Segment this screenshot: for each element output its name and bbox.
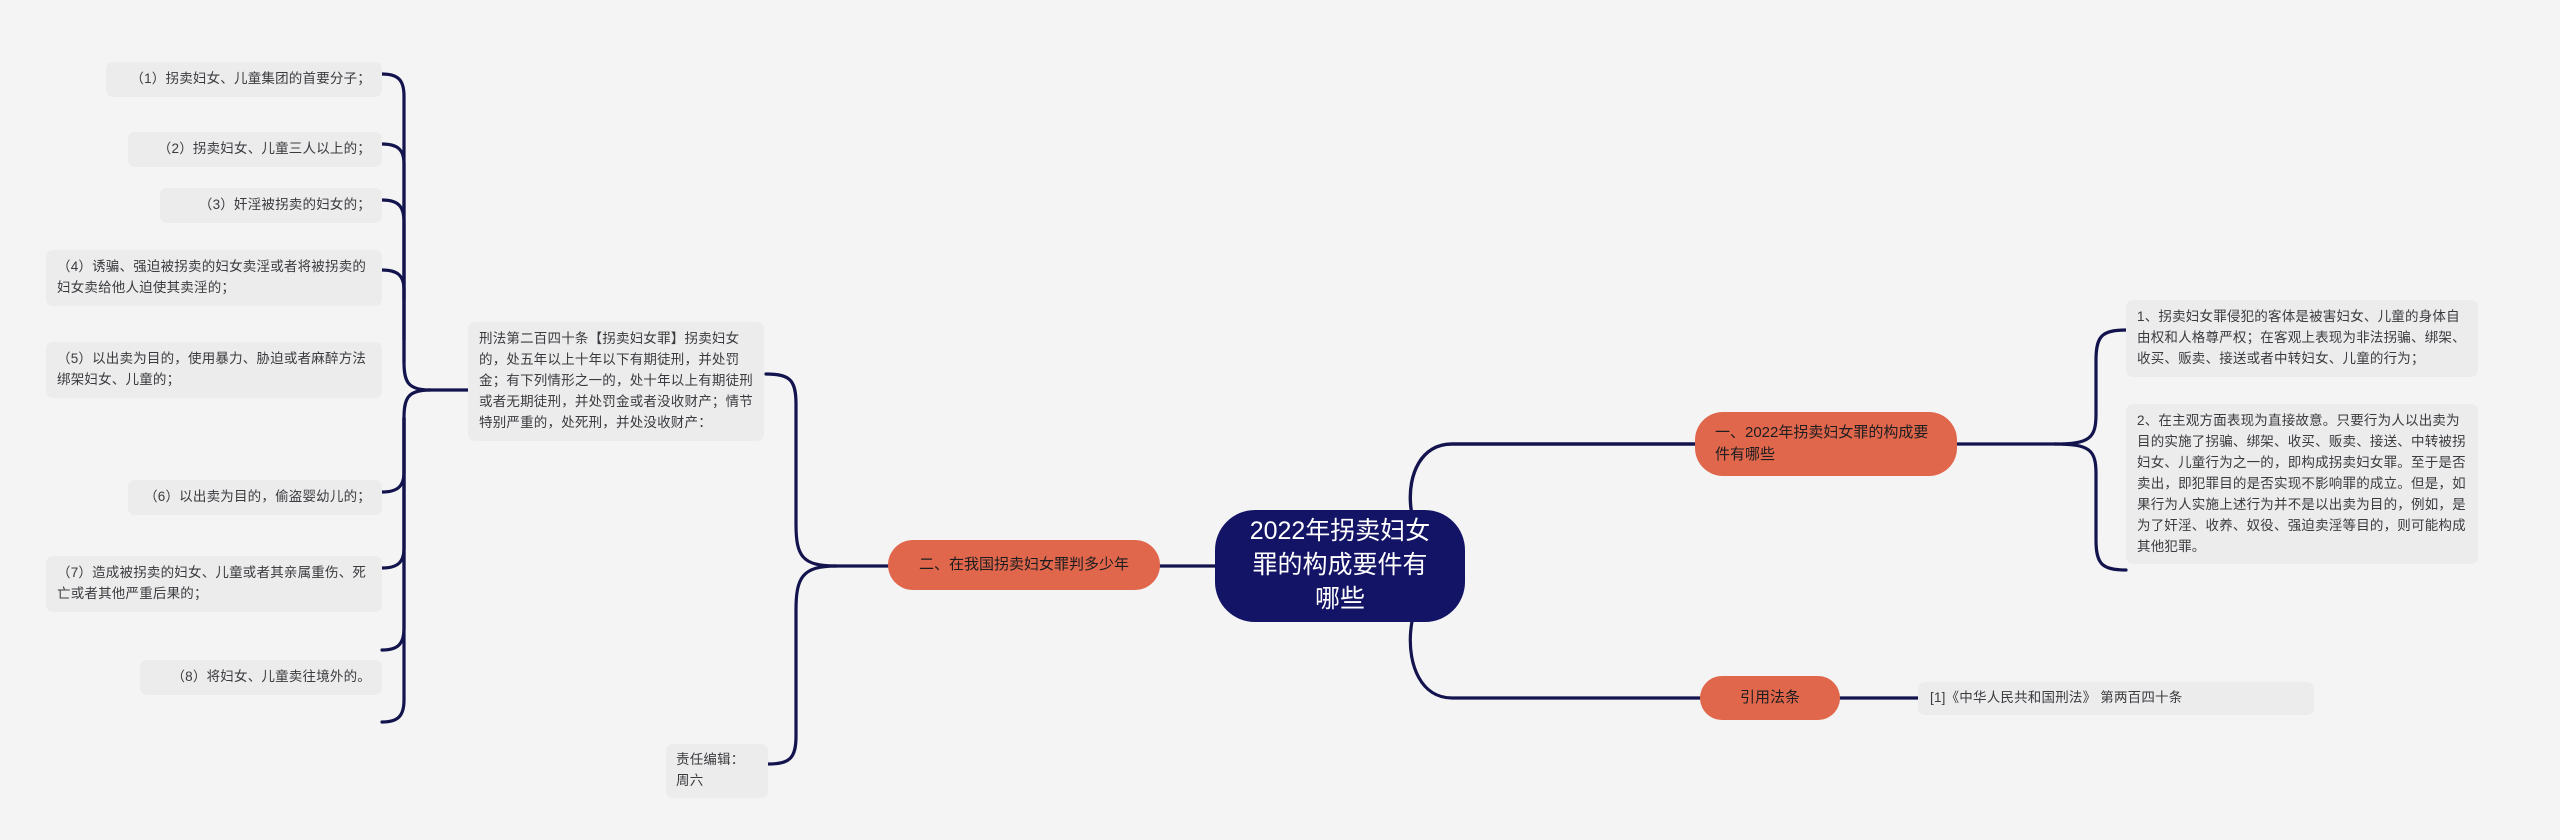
detail-panel-text: 1、拐卖妇女罪侵犯的客体是被害妇女、儿童的身体自由权和人格尊严权；在客观上表现为… bbox=[2137, 309, 2466, 366]
law-item-2: （2）拐卖妇女、儿童三人以上的； bbox=[128, 132, 382, 167]
law-item-text: （7）造成被拐卖的妇女、儿童或者其亲属重伤、死亡或者其他严重后果的； bbox=[57, 565, 366, 601]
citation-chip: [1]《中华人民共和国刑法》 第两百四十条 bbox=[1918, 682, 2314, 715]
branch-node-constituent-elements[interactable]: 一、2022年拐卖妇女罪的构成要件有哪些 bbox=[1695, 412, 1957, 476]
branch-node-label: 一、2022年拐卖妇女罪的构成要件有哪些 bbox=[1715, 422, 1937, 466]
law-item-text: （6）以出卖为目的，偷盗婴幼儿的； bbox=[144, 489, 371, 504]
editor-credit-chip: 责任编辑：周六 bbox=[666, 744, 768, 798]
branch-node-label: 引用法条 bbox=[1740, 687, 1800, 709]
law-item-5: （5）以出卖为目的，使用暴力、胁迫或者麻醉方法绑架妇女、儿童的； bbox=[46, 342, 382, 398]
law-item-1: （1）拐卖妇女、儿童集团的首要分子； bbox=[106, 62, 382, 97]
law-item-text: （4）诱骗、强迫被拐卖的妇女卖淫或者将被拐卖的妇女卖给他人迫使其卖淫的； bbox=[57, 259, 366, 295]
editor-credit-text: 责任编辑：周六 bbox=[676, 752, 745, 788]
law-item-text: （8）将妇女、儿童卖往境外的。 bbox=[171, 669, 371, 684]
law-item-3: （3）奸淫被拐卖的妇女的； bbox=[160, 188, 382, 223]
law-item-text: （5）以出卖为目的，使用暴力、胁迫或者麻醉方法绑架妇女、儿童的； bbox=[57, 351, 366, 387]
citation-text: [1]《中华人民共和国刑法》 第两百四十条 bbox=[1930, 690, 2182, 705]
law-item-text: （1）拐卖妇女、儿童集团的首要分子； bbox=[130, 71, 371, 86]
branch-node-sentencing[interactable]: 二、在我国拐卖妇女罪判多少年 bbox=[888, 540, 1160, 590]
mindmap-canvas: 2022年拐卖妇女罪的构成要件有哪些 一、2022年拐卖妇女罪的构成要件有哪些 … bbox=[0, 0, 2560, 840]
branch-node-label: 二、在我国拐卖妇女罪判多少年 bbox=[919, 554, 1129, 576]
law-item-text: （2）拐卖妇女、儿童三人以上的； bbox=[158, 141, 371, 156]
detail-panel-objective-element: 1、拐卖妇女罪侵犯的客体是被害妇女、儿童的身体自由权和人格尊严权；在客观上表现为… bbox=[2126, 300, 2478, 377]
law-item-7: （7）造成被拐卖的妇女、儿童或者其亲属重伤、死亡或者其他严重后果的； bbox=[46, 556, 382, 612]
law-item-8: （8）将妇女、儿童卖往境外的。 bbox=[140, 660, 382, 695]
law-item-4: （4）诱骗、强迫被拐卖的妇女卖淫或者将被拐卖的妇女卖给他人迫使其卖淫的； bbox=[46, 250, 382, 306]
law-item-text: （3）奸淫被拐卖的妇女的； bbox=[199, 197, 371, 212]
detail-panel-subjective-element: 2、在主观方面表现为直接故意。只要行为人以出卖为目的实施了拐骗、绑架、收买、贩卖… bbox=[2126, 404, 2478, 564]
root-node-label: 2022年拐卖妇女罪的构成要件有哪些 bbox=[1241, 515, 1439, 616]
law-article-text: 刑法第二百四十条【拐卖妇女罪】拐卖妇女的，处五年以上十年以下有期徒刑，并处罚金；… bbox=[468, 322, 764, 441]
root-node[interactable]: 2022年拐卖妇女罪的构成要件有哪些 bbox=[1215, 510, 1465, 622]
law-article-text-content: 刑法第二百四十条【拐卖妇女罪】拐卖妇女的，处五年以上十年以下有期徒刑，并处罚金；… bbox=[479, 331, 753, 430]
law-item-6: （6）以出卖为目的，偷盗婴幼儿的； bbox=[128, 480, 382, 515]
branch-node-cited-law[interactable]: 引用法条 bbox=[1700, 676, 1840, 720]
detail-panel-text: 2、在主观方面表现为直接故意。只要行为人以出卖为目的实施了拐骗、绑架、收买、贩卖… bbox=[2137, 413, 2466, 554]
